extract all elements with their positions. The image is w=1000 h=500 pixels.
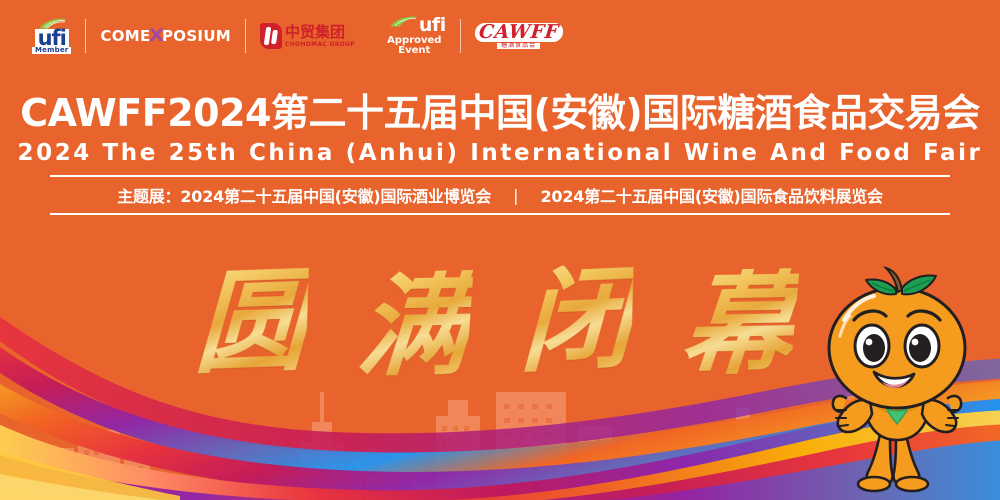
ctg-english-name: CHOHOMAC GROUP <box>285 42 355 48</box>
subline-separator: | <box>513 186 518 205</box>
page-title: CAWFF2024第二十五届中国(安徽)国际糖酒食品交易会 <box>0 90 1000 136</box>
calligraphy-char-2: 满 <box>353 270 473 384</box>
china-trade-group-logo: 中贸集团 CHOHOMAC GROUP <box>246 8 369 64</box>
calligraphy-char-1: 圆 <box>193 265 309 381</box>
subline-band: 主题展：2024第二十五届中国(安徽)国际酒业博览会 | 2024第二十五届中国… <box>50 175 950 215</box>
orange-fruit-mascot <box>802 258 992 493</box>
headline-block: CAWFF2024第二十五届中国(安徽)国际糖酒食品交易会 2024 The 2… <box>0 90 1000 168</box>
ufi-member-logo: ufi Member <box>18 8 85 64</box>
calligraphy-char-3: 闭 <box>519 263 634 380</box>
comexposium-x-icon: X <box>149 26 164 46</box>
page-subtitle-english: 2024 The 25th China (Anhui) Internationa… <box>0 138 1000 168</box>
divider-line-bottom <box>50 213 950 215</box>
cawff-wordmark: CAWFF <box>474 23 563 42</box>
comexposium-part1: COME <box>100 27 150 45</box>
theme-exhibition-right: 2024第二十五届中国(安徽)国际食品饮料展览会 <box>541 183 883 207</box>
calligraphy-headline: 圆 满 闭 幕 <box>195 248 795 398</box>
calligraphy-char-4: 幕 <box>678 268 800 382</box>
ufi-member-label: Member <box>32 47 71 54</box>
comexposium-logo: COME X POSIUM <box>86 8 245 64</box>
comexposium-part2: POSIUM <box>162 27 231 45</box>
ctg-chinese-name: 中贸集团 <box>285 25 355 40</box>
partner-logo-strip: ufi Member COME X POSIUM 中贸集团 CHOHOMAC G… <box>18 8 576 64</box>
cawff-logo: CAWFF 糖酒食品会 <box>461 8 577 64</box>
event-poster: ufi Member COME X POSIUM 中贸集团 CHOHOMAC G… <box>0 0 1000 500</box>
ufi-approved-wordmark: ufi <box>419 16 446 35</box>
theme-exhibition-left: 主题展：2024第二十五届中国(安徽)国际酒业博览会 <box>117 183 491 207</box>
ufi-approved-event-logo: ufi Approved Event <box>369 8 460 64</box>
ufi-approved-line2: Event <box>398 46 430 56</box>
mascot-stem-and-leaves <box>866 268 936 294</box>
cawff-sub-label: 糖酒食品会 <box>497 43 540 49</box>
mascot-head <box>829 288 965 408</box>
mascot-legs <box>858 434 928 491</box>
ctg-emblem-icon <box>260 23 282 49</box>
ufi-wordmark: ufi <box>35 29 69 47</box>
ufi-approved-swoosh-icon <box>389 16 419 28</box>
